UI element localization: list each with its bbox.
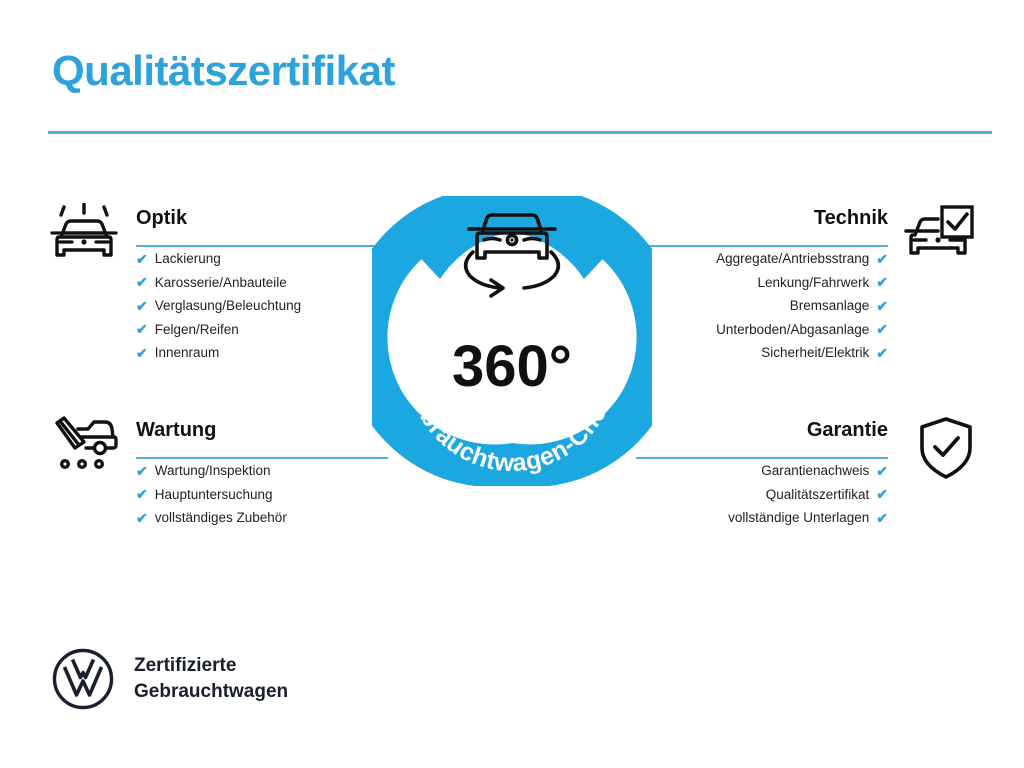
- title-divider: [48, 131, 992, 134]
- check-icon: ✔: [136, 511, 148, 525]
- list-item: ✔Wartung/Inspektion: [136, 459, 388, 483]
- list-item-label: Karosserie/Anbauteile: [155, 271, 287, 295]
- list-item-label: Aggregate/Antriebsstrang: [716, 247, 869, 271]
- list-item: ✔Hauptuntersuchung: [136, 483, 388, 507]
- section-header-garantie: Garantie: [636, 415, 888, 459]
- check-icon: ✔: [136, 322, 148, 336]
- footer-line-1: Zertifizierte: [134, 653, 288, 679]
- section-title: Wartung: [136, 415, 388, 445]
- check-icon: ✔: [136, 252, 148, 266]
- car-checkbox-icon: [904, 203, 976, 270]
- section-divider: [636, 457, 888, 459]
- list-item: Aggregate/Antriebsstrang✔: [636, 247, 888, 271]
- section-title: Technik: [636, 203, 888, 233]
- section-header-optik: Optik: [136, 203, 388, 247]
- shield-check-icon: [916, 415, 976, 486]
- list-item-label: Lackierung: [155, 247, 221, 271]
- list-item: ✔Felgen/Reifen: [136, 318, 388, 342]
- check-icon: ✔: [876, 299, 888, 313]
- checklist-technik: Aggregate/Antriebsstrang✔ Lenkung/Fahrwe…: [636, 247, 888, 365]
- section-title: Garantie: [636, 415, 888, 445]
- list-item-label: vollständiges Zubehör: [155, 506, 287, 530]
- checklist-optik: ✔Lackierung ✔Karosserie/Anbauteile ✔Verg…: [136, 247, 388, 365]
- section-wartung: Wartung ✔Wartung/Inspektion ✔Hauptunters…: [48, 415, 388, 530]
- page-title: Qualitätszertifikat: [52, 47, 395, 95]
- list-item: Sicherheit/Elektrik✔: [636, 341, 888, 365]
- section-optik: Optik ✔Lackierung ✔Karosserie/Anbauteile…: [48, 203, 388, 365]
- list-item-label: Felgen/Reifen: [155, 318, 239, 342]
- section-technik: Technik Aggregate/Antriebsstrang✔ Lenkun…: [636, 203, 976, 365]
- list-item-label: Garantienachweis: [761, 459, 869, 483]
- list-item-label: Wartung/Inspektion: [155, 459, 271, 483]
- badge-center-label: 360°: [452, 334, 572, 399]
- check-icon: ✔: [876, 487, 888, 501]
- section-garantie: Garantie Garantienachweis✔ Qualitätszert…: [636, 415, 976, 530]
- section-header-wartung: Wartung: [136, 415, 388, 459]
- list-item-label: Bremsanlage: [790, 294, 870, 318]
- list-item: Qualitätszertifikat✔: [636, 483, 888, 507]
- check-icon: ✔: [876, 511, 888, 525]
- vw-logo: [52, 648, 114, 710]
- list-item: ✔vollständiges Zubehör: [136, 506, 388, 530]
- list-item: ✔Verglasung/Beleuchtung: [136, 294, 388, 318]
- check-icon: ✔: [876, 346, 888, 360]
- list-item: vollständige Unterlagen✔: [636, 506, 888, 530]
- badge-360-gebrauchtwagen-check: Gebrauchtwagen-Check 360°: [372, 196, 652, 486]
- list-item: ✔Karosserie/Anbauteile: [136, 271, 388, 295]
- check-icon: ✔: [876, 252, 888, 266]
- list-item-label: Hauptuntersuchung: [155, 483, 273, 507]
- check-icon: ✔: [876, 322, 888, 336]
- section-divider: [636, 245, 888, 247]
- list-item-label: Lenkung/Fahrwerk: [757, 271, 869, 295]
- list-item-label: Sicherheit/Elektrik: [761, 341, 869, 365]
- list-item-label: Innenraum: [155, 341, 220, 365]
- check-icon: ✔: [136, 487, 148, 501]
- check-icon: ✔: [876, 275, 888, 289]
- section-header-technik: Technik: [636, 203, 888, 247]
- footer-line-2: Gebrauchtwagen: [134, 679, 288, 705]
- check-icon: ✔: [876, 464, 888, 478]
- section-divider: [136, 245, 388, 247]
- list-item-label: Unterboden/Abgasanlage: [716, 318, 869, 342]
- section-divider: [136, 457, 388, 459]
- list-item: Unterboden/Abgasanlage✔: [636, 318, 888, 342]
- footer-logo-text: Zertifizierte Gebrauchtwagen: [134, 653, 288, 705]
- check-icon: ✔: [136, 464, 148, 478]
- section-title: Optik: [136, 203, 388, 233]
- check-icon: ✔: [136, 299, 148, 313]
- footer-logo-block: Zertifizierte Gebrauchtwagen: [52, 648, 288, 710]
- list-item-label: vollständige Unterlagen: [728, 506, 869, 530]
- checklist-garantie: Garantienachweis✔ Qualitätszertifikat✔ v…: [636, 459, 888, 530]
- list-item: ✔Innenraum: [136, 341, 388, 365]
- check-icon: ✔: [136, 275, 148, 289]
- list-item-label: Qualitätszertifikat: [766, 483, 870, 507]
- list-item: ✔Lackierung: [136, 247, 388, 271]
- list-item: Lenkung/Fahrwerk✔: [636, 271, 888, 295]
- checklist-wartung: ✔Wartung/Inspektion ✔Hauptuntersuchung ✔…: [136, 459, 388, 530]
- car-service-pen-icon: [48, 415, 120, 478]
- check-icon: ✔: [136, 346, 148, 360]
- list-item: Bremsanlage✔: [636, 294, 888, 318]
- list-item-label: Verglasung/Beleuchtung: [155, 294, 301, 318]
- list-item: Garantienachweis✔: [636, 459, 888, 483]
- car-shine-icon: [48, 203, 120, 270]
